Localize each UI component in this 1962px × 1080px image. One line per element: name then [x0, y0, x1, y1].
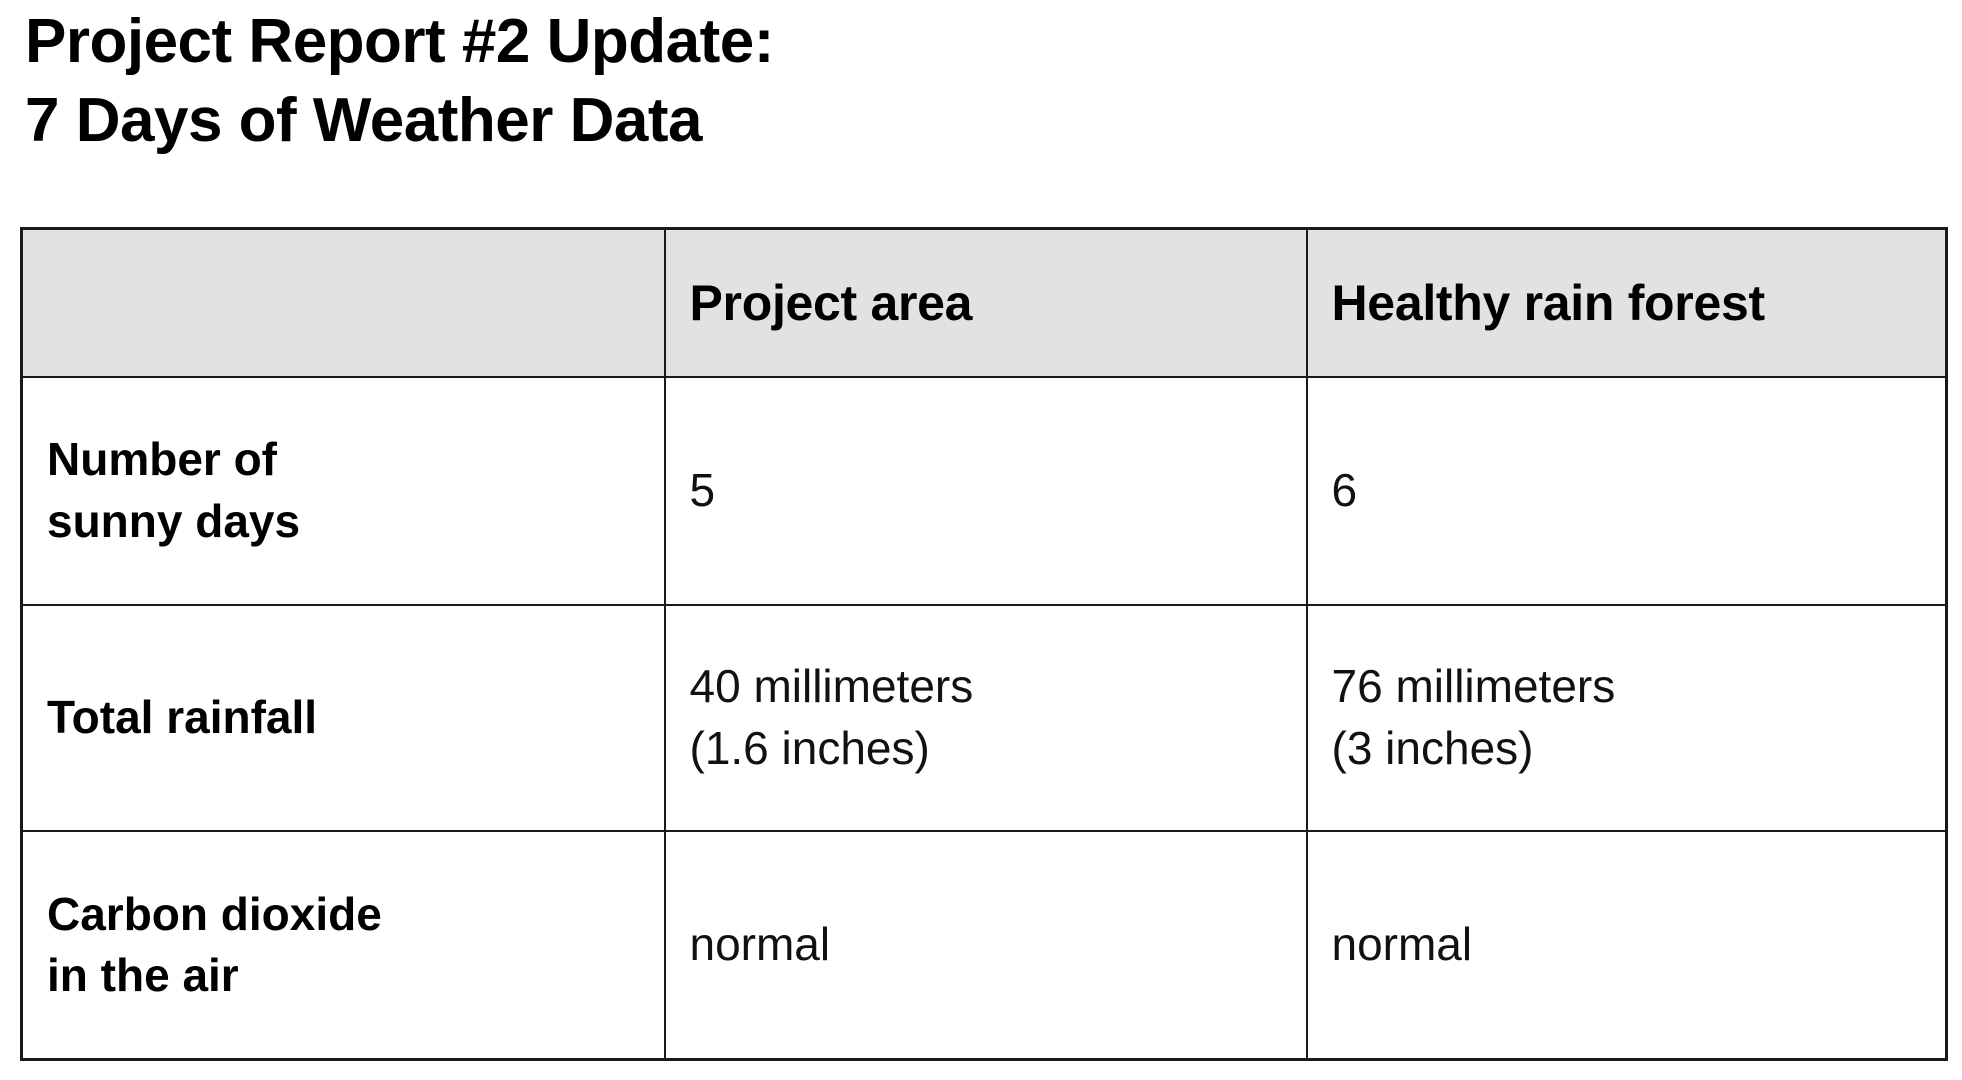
cell-sunny-days-project-area-line-1: 5 — [690, 460, 1282, 521]
row-label-total-rainfall-line-1: Total rainfall — [47, 687, 640, 748]
table-header-project-area: Project area — [665, 229, 1307, 377]
table-header-blank — [22, 229, 665, 377]
row-label-carbon-dioxide: Carbon dioxide in the air — [22, 831, 665, 1060]
cell-sunny-days-rain-forest-line-1: 6 — [1332, 460, 1922, 521]
table-row: Number of sunny days 5 6 — [22, 377, 1947, 605]
row-label-carbon-dioxide-line-2: in the air — [47, 945, 640, 1006]
table-row: Carbon dioxide in the air normal normal — [22, 831, 1947, 1060]
cell-carbon-dioxide-project-area: normal — [665, 831, 1307, 1060]
cell-total-rainfall-rain-forest: 76 millimeters (3 inches) — [1307, 605, 1947, 831]
cell-total-rainfall-project-area-line-1: 40 millimeters — [690, 656, 1282, 717]
cell-carbon-dioxide-project-area-line-1: normal — [690, 914, 1282, 975]
cell-carbon-dioxide-rain-forest-line-1: normal — [1332, 914, 1922, 975]
cell-total-rainfall-project-area: 40 millimeters (1.6 inches) — [665, 605, 1307, 831]
cell-total-rainfall-project-area-line-2: (1.6 inches) — [690, 718, 1282, 779]
row-label-total-rainfall: Total rainfall — [22, 605, 665, 831]
table-header-healthy-rain-forest: Healthy rain forest — [1307, 229, 1947, 377]
page-title: Project Report #2 Update: 7 Days of Weat… — [25, 2, 1925, 161]
cell-total-rainfall-rain-forest-line-2: (3 inches) — [1332, 718, 1922, 779]
weather-data-table: Project area Healthy rain forest Number … — [20, 227, 1948, 1061]
table-row: Total rainfall 40 millimeters (1.6 inche… — [22, 605, 1947, 831]
cell-total-rainfall-rain-forest-line-1: 76 millimeters — [1332, 656, 1922, 717]
cell-sunny-days-project-area: 5 — [665, 377, 1307, 605]
row-label-carbon-dioxide-line-1: Carbon dioxide — [47, 884, 640, 945]
table-header-row: Project area Healthy rain forest — [22, 229, 1947, 377]
row-label-sunny-days-line-1: Number of — [47, 429, 640, 490]
document-page: Project Report #2 Update: 7 Days of Weat… — [0, 0, 1962, 1080]
row-label-sunny-days-line-2: sunny days — [47, 491, 640, 552]
row-label-sunny-days: Number of sunny days — [22, 377, 665, 605]
page-title-line-2: 7 Days of Weather Data — [25, 81, 1925, 160]
cell-sunny-days-rain-forest: 6 — [1307, 377, 1947, 605]
cell-carbon-dioxide-rain-forest: normal — [1307, 831, 1947, 1060]
page-title-line-1: Project Report #2 Update: — [25, 2, 1925, 81]
